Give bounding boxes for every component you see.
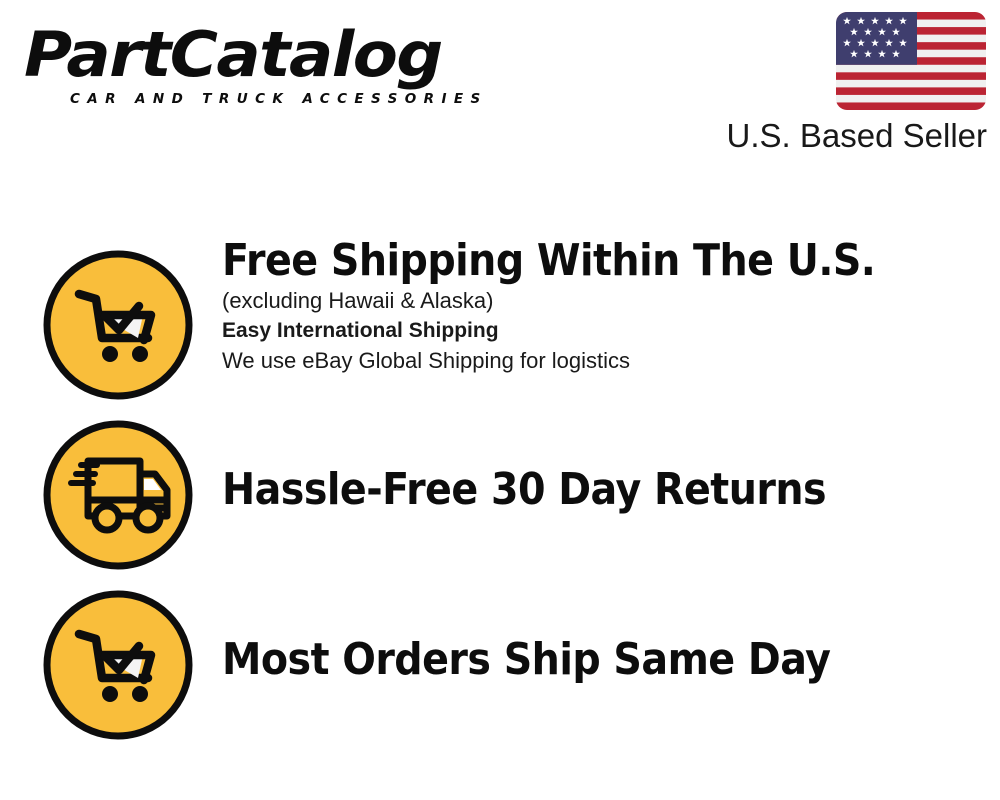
shopping-cart-check-icon [43, 590, 193, 740]
brand-logo: PartCatalog CAR AND TRUCK ACCESSORIES [24, 22, 494, 122]
promo-banner: PartCatalog CAR AND TRUCK ACCESSORIES [0, 0, 1000, 800]
us-flag-icon [836, 12, 986, 110]
feature-heading: Hassle-Free 30 Day Returns [222, 465, 906, 515]
shopping-cart-check-icon [43, 250, 193, 400]
feature-text-block: Free Shipping Within The U.S. (excluding… [222, 236, 982, 376]
feature-text-block: Hassle-Free 30 Day Returns [222, 465, 982, 515]
us-based-seller-label: U.S. Based Seller [725, 117, 987, 155]
feature-subtext-international-detail: We use eBay Global Shipping for logistic… [222, 346, 982, 376]
brand-wordmark: PartCatalog [24, 22, 522, 88]
feature-heading: Free Shipping Within The U.S. [222, 236, 906, 286]
feature-subtext-exclusions: (excluding Hawaii & Alaska) [222, 286, 982, 316]
feature-subtext-international-title: Easy International Shipping [222, 316, 982, 346]
feature-text-block: Most Orders Ship Same Day [222, 635, 982, 685]
brand-tagline: CAR AND TRUCK ACCESSORIES [70, 91, 494, 107]
delivery-truck-icon [43, 420, 193, 570]
feature-heading: Most Orders Ship Same Day [222, 635, 906, 685]
